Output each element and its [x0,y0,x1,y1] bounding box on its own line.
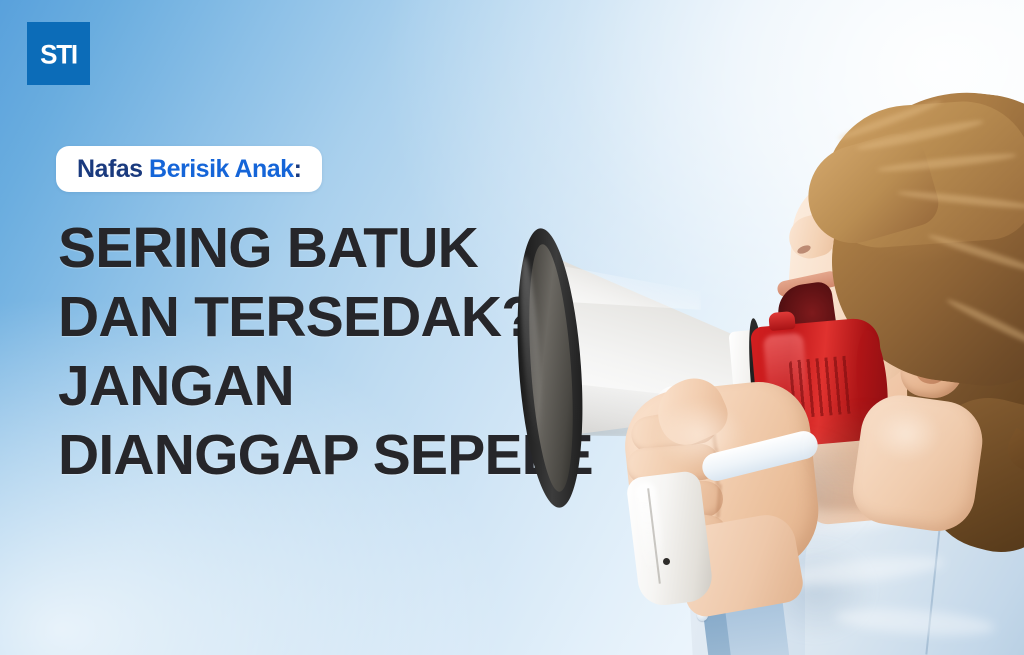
eyebrow-label: Nafas Berisik Anak: [77,157,301,182]
megaphone-handle-screw [663,558,670,565]
sti-logo-text: STI [40,40,77,67]
eyebrow-badge: Nafas Berisik Anak: [56,146,322,192]
sti-logo[interactable]: STI [27,22,90,85]
eyebrow-label-part-3: : [294,155,302,183]
hero-photo-boy-with-megaphone [505,0,1024,655]
eyebrow-label-part-1: Nafas [77,155,149,183]
banner: STI Nafas Berisik Anak: SERING BATUK DAN… [0,0,1024,655]
megaphone-knob [768,311,795,331]
supporting-hand-highlight [871,406,941,462]
eyebrow-label-part-2: Berisik Anak [149,155,294,183]
